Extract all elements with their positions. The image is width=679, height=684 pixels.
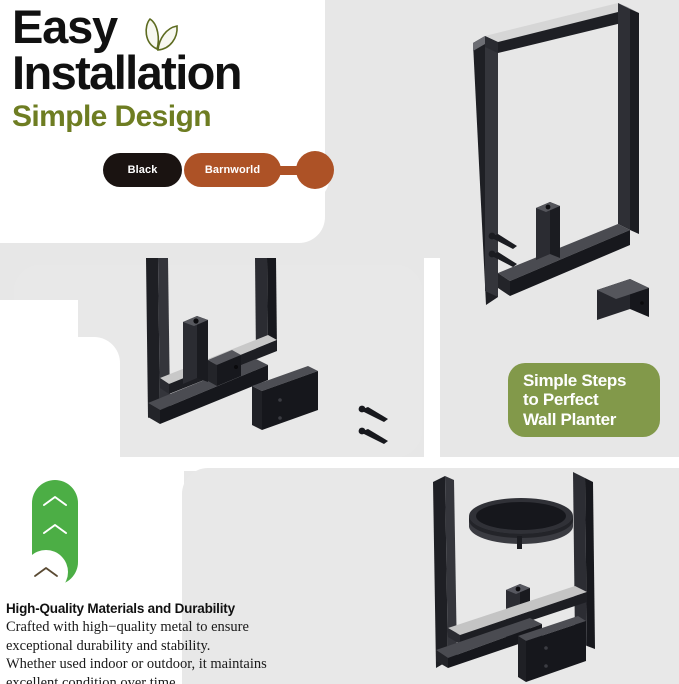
step-indicator-active[interactable]	[24, 550, 68, 594]
feature-body: Crafted with high−quality metal to ensur…	[6, 618, 336, 684]
photo-middle-left	[120, 258, 420, 458]
photo-top-right	[440, 0, 679, 340]
chevron-up-icon	[32, 565, 60, 584]
feature-body-line-3: Whether used indoor or outdoor, it maint…	[6, 655, 336, 674]
swatch-barnworld-label: Barnworld	[205, 164, 260, 176]
callout-line-1: Simple Steps	[523, 371, 626, 391]
infographic-canvas: Easy Installation Simple Design Black Ba…	[0, 0, 679, 684]
swatch-black[interactable]: Black	[103, 153, 182, 187]
chevron-up-icon	[41, 494, 69, 508]
assembled-planter-svg	[390, 468, 679, 684]
chevron-up-icon	[41, 522, 69, 536]
frame-exploded-svg	[440, 0, 679, 340]
swatch-barnworld-dot[interactable]	[296, 151, 334, 189]
panel-gap-vertical	[424, 258, 440, 464]
callout-box: Simple Steps to Perfect Wall Planter	[508, 363, 660, 437]
feature-body-line-2: exceptional durability and stability.	[6, 637, 336, 656]
color-swatch-group[interactable]: Black Barnworld	[103, 153, 281, 187]
title-line-3: Simple Design	[12, 100, 312, 134]
callout-text: Simple Steps to Perfect Wall Planter	[523, 371, 626, 430]
swatch-barnworld[interactable]: Barnworld	[184, 153, 281, 187]
frame-base-svg	[120, 258, 420, 458]
callout-line-2: to Perfect	[523, 390, 626, 410]
feature-heading: High-Quality Materials and Durability	[6, 600, 336, 617]
feature-body-line-1: Crafted with high−quality metal to ensur…	[6, 618, 336, 637]
leaf-icon	[138, 13, 182, 53]
photo-bottom-right	[390, 468, 679, 684]
title-line-2: Installation	[12, 47, 312, 99]
feature-body-line-4: excellent condition over time.	[6, 674, 336, 684]
callout-line-3: Wall Planter	[523, 410, 626, 430]
feature-description: High-Quality Materials and Durability Cr…	[6, 600, 336, 684]
swatch-black-label: Black	[128, 164, 158, 176]
panel-notch-upper	[0, 300, 78, 370]
